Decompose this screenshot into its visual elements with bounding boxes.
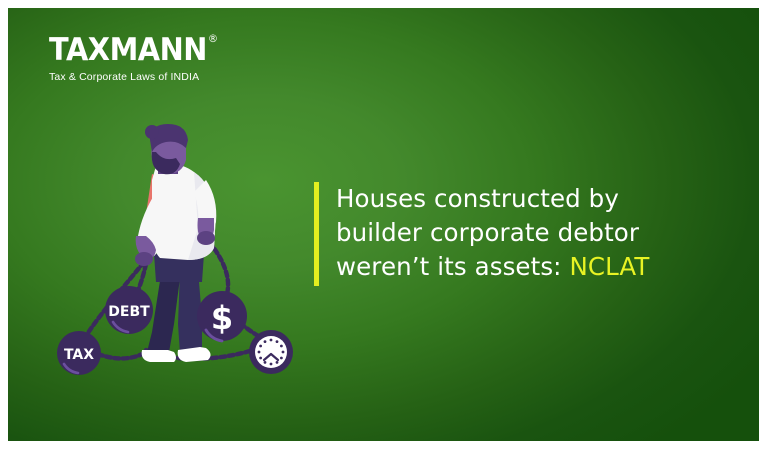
- brand-wordmark: TAXMANN®: [49, 35, 207, 66]
- brand-tagline: Tax & Corporate Laws of INDIA: [49, 71, 269, 83]
- ball-dollar-label: $: [211, 299, 233, 337]
- registered-trademark-icon: ®: [208, 33, 218, 44]
- figure-cuff-right: [197, 231, 215, 245]
- accent-bar: [314, 182, 319, 286]
- ball-tax: TAX: [57, 331, 101, 375]
- headline-line-3: weren’t its assets:: [336, 252, 569, 281]
- image-frame: TAXMANN® Tax & Corporate Laws of INDIA: [0, 0, 768, 450]
- poster-canvas: TAXMANN® Tax & Corporate Laws of INDIA: [8, 8, 759, 441]
- ball-debt: DEBT: [105, 286, 153, 334]
- ball-clock: [249, 330, 293, 374]
- headline-line-1: Houses constructed by: [336, 184, 619, 213]
- chained-businessman-illustration: TAX DEBT $: [28, 118, 328, 408]
- headline-line-2: builder corporate debtor: [336, 218, 639, 247]
- brand-logo: TAXMANN® Tax & Corporate Laws of INDIA: [49, 35, 269, 83]
- ball-debt-label: DEBT: [108, 304, 150, 320]
- figure-shoe-back: [142, 350, 176, 362]
- ball-tax-label: TAX: [64, 347, 94, 363]
- figure-cuff-left: [135, 252, 153, 266]
- headline-accent-nclat: NCLAT: [569, 252, 649, 281]
- headline-block: Houses constructed by builder corporate …: [314, 182, 649, 286]
- brand-wordmark-text: TAXMANN: [49, 32, 207, 68]
- chain-tax-trail: [98, 352, 146, 358]
- figure-hair-bun: [145, 125, 159, 139]
- page-title: Houses constructed by builder corporate …: [336, 182, 649, 286]
- illustration-svg: TAX DEBT $: [28, 118, 328, 408]
- ball-dollar: $: [197, 291, 247, 341]
